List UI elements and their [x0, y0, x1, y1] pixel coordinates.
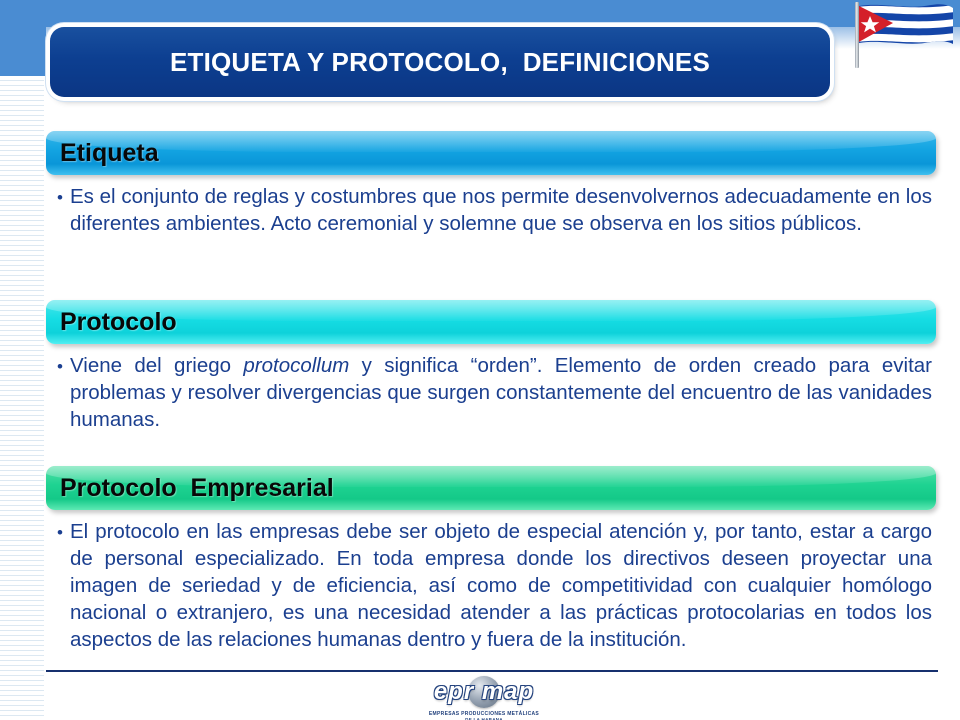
bullet-text-part-before: El protocolo en las empresas debe ser ob…	[70, 520, 932, 651]
slide-canvas: ETIQUETA Y PROTOCOLO, DEFINICIONES Etiqu…	[0, 0, 960, 720]
section-body-etiqueta: • Es el conjunto de reglas y costumbres …	[46, 175, 936, 243]
bullet-text: Viene del griego protocollum y significa…	[70, 352, 932, 433]
bullet-glyph: •	[50, 352, 70, 380]
cuba-flag-svg	[845, 0, 957, 70]
bullet-glyph: •	[50, 518, 70, 546]
section-body-protocolo: • Viene del griego protocollum y signifi…	[46, 344, 936, 439]
section-header-bar-etiqueta: Etiqueta	[46, 131, 936, 175]
bullet-item: • El protocolo en las empresas debe ser …	[50, 518, 932, 653]
flag-pole	[855, 2, 859, 68]
bullet-text-part-before: Es el conjunto de reglas y costumbres qu…	[70, 185, 932, 235]
section-protocolo-empresarial: Protocolo Empresarial • El protocolo en …	[46, 466, 936, 659]
logo-mark: epr map	[398, 676, 570, 710]
bullet-text: El protocolo en las empresas debe ser ob…	[70, 518, 932, 653]
bullet-item: • Es el conjunto de reglas y costumbres …	[50, 183, 932, 237]
footer-divider	[46, 670, 938, 672]
bullet-text-part-italic: protocollum	[243, 354, 349, 377]
cuba-flag-icon	[845, 0, 957, 70]
epromap-logo: epr map EMPRESAS PRODUCCIONES METÁLICAS …	[398, 676, 570, 720]
section-heading-etiqueta: Etiqueta	[46, 139, 159, 168]
bullet-item: • Viene del griego protocollum y signifi…	[50, 352, 932, 433]
section-header-bar-protocolo-empresarial: Protocolo Empresarial	[46, 466, 936, 510]
section-body-protocolo-empresarial: • El protocolo en las empresas debe ser …	[46, 510, 936, 659]
bullet-text: Es el conjunto de reglas y costumbres qu…	[70, 183, 932, 237]
section-header-bar-protocolo: Protocolo	[46, 300, 936, 344]
logo-wordmark: epr map	[398, 678, 570, 706]
section-heading-protocolo: Protocolo	[46, 308, 177, 337]
top-color-band	[0, 0, 960, 27]
slide-title-bar: ETIQUETA Y PROTOCOLO, DEFINICIONES	[50, 27, 830, 97]
page-title: ETIQUETA Y PROTOCOLO, DEFINICIONES	[170, 47, 710, 78]
bullet-glyph: •	[50, 183, 70, 211]
bullet-text-part-before: Viene del griego	[70, 354, 243, 377]
section-etiqueta: Etiqueta • Es el conjunto de reglas y co…	[46, 131, 936, 243]
section-heading-protocolo-empresarial: Protocolo Empresarial	[46, 474, 334, 503]
section-protocolo: Protocolo • Viene del griego protocollum…	[46, 300, 936, 439]
